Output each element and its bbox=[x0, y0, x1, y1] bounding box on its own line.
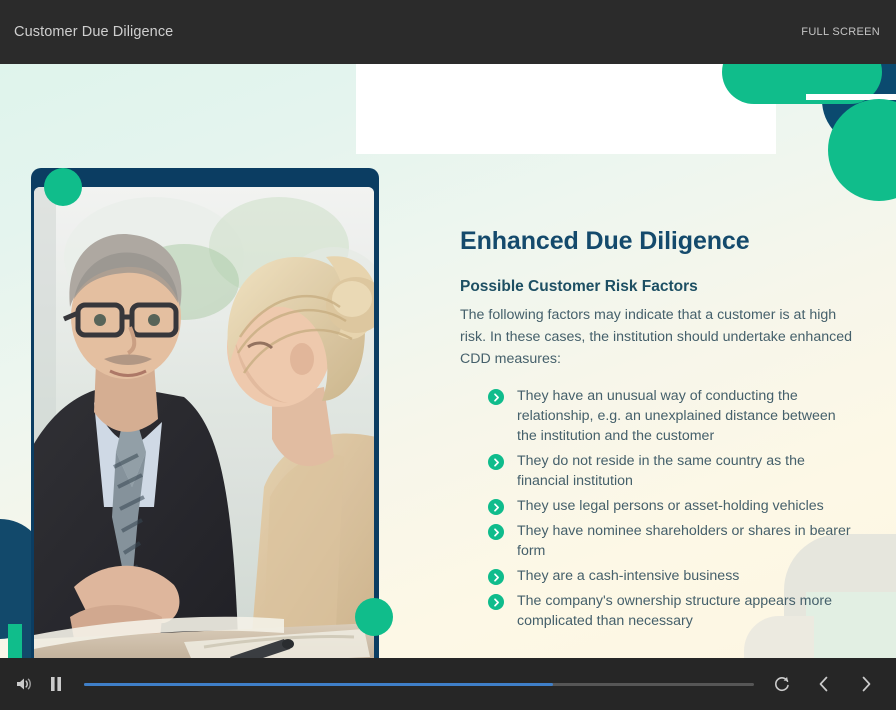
list-item: They do not reside in the same country a… bbox=[488, 451, 856, 491]
fullscreen-button[interactable]: FULL SCREEN bbox=[801, 26, 880, 38]
meeting-photo-illustration bbox=[34, 187, 374, 658]
slide-stage: Enhanced Due Diligence Possible Customer… bbox=[0, 64, 896, 658]
seek-track[interactable] bbox=[84, 683, 754, 686]
slide-image bbox=[34, 187, 374, 658]
course-title: Customer Due Diligence bbox=[14, 24, 173, 40]
list-item-label: They do not reside in the same country a… bbox=[517, 451, 856, 491]
list-item: They are a cash-intensive business bbox=[488, 566, 856, 586]
decor-green-circle-top-right bbox=[828, 99, 896, 201]
next-button[interactable] bbox=[850, 668, 882, 700]
list-item: They use legal persons or asset-holding … bbox=[488, 496, 856, 516]
list-item-label: They have an unusual way of conducting t… bbox=[517, 386, 856, 446]
course-player: Customer Due Diligence FULL SCREEN bbox=[0, 0, 896, 710]
seek-progress-fill bbox=[84, 683, 553, 686]
volume-button[interactable] bbox=[8, 668, 40, 700]
decor-white-block bbox=[356, 64, 776, 154]
chevron-right-circle-icon bbox=[488, 594, 504, 610]
decor-white-divider bbox=[806, 94, 896, 100]
navigation-controls bbox=[766, 668, 882, 700]
slide-body-text: The following factors may indicate that … bbox=[460, 304, 856, 370]
play-pause-button[interactable] bbox=[40, 668, 72, 700]
photo-accent-circle-bottom-right bbox=[355, 598, 393, 636]
chevron-right-circle-icon bbox=[488, 454, 504, 470]
list-item-label: The company's ownership structure appear… bbox=[517, 591, 856, 631]
slide-subtitle: Possible Customer Risk Factors bbox=[460, 278, 856, 296]
chevron-right-icon bbox=[858, 675, 874, 693]
list-item: The company's ownership structure appear… bbox=[488, 591, 856, 631]
list-item-label: They use legal persons or asset-holding … bbox=[517, 496, 824, 516]
list-item: They have nominee shareholders or shares… bbox=[488, 521, 856, 561]
decor-green-bar-top-right bbox=[722, 64, 882, 104]
seek-bar[interactable] bbox=[84, 673, 754, 695]
slide-content: Enhanced Due Diligence Possible Customer… bbox=[460, 227, 856, 636]
replay-button[interactable] bbox=[766, 668, 798, 700]
risk-factor-list: They have an unusual way of conducting t… bbox=[460, 386, 856, 631]
decor-navy-circle-top-right bbox=[822, 64, 896, 146]
list-item-label: They have nominee shareholders or shares… bbox=[517, 521, 856, 561]
player-header: Customer Due Diligence FULL SCREEN bbox=[0, 0, 896, 64]
previous-button[interactable] bbox=[808, 668, 840, 700]
chevron-right-circle-icon bbox=[488, 389, 504, 405]
list-item: They have an unusual way of conducting t… bbox=[488, 386, 856, 446]
pause-icon bbox=[49, 676, 63, 692]
player-controls bbox=[0, 658, 896, 710]
photo-frame bbox=[31, 168, 379, 658]
chevron-right-circle-icon bbox=[488, 499, 504, 515]
chevron-right-circle-icon bbox=[488, 524, 504, 540]
speaker-icon bbox=[15, 676, 33, 692]
chevron-left-icon bbox=[816, 675, 832, 693]
chevron-right-circle-icon bbox=[488, 569, 504, 585]
slide-title: Enhanced Due Diligence bbox=[460, 227, 856, 256]
replay-icon bbox=[773, 675, 791, 693]
list-item-label: They are a cash-intensive business bbox=[517, 566, 739, 586]
photo-accent-circle-top-left bbox=[44, 168, 82, 206]
